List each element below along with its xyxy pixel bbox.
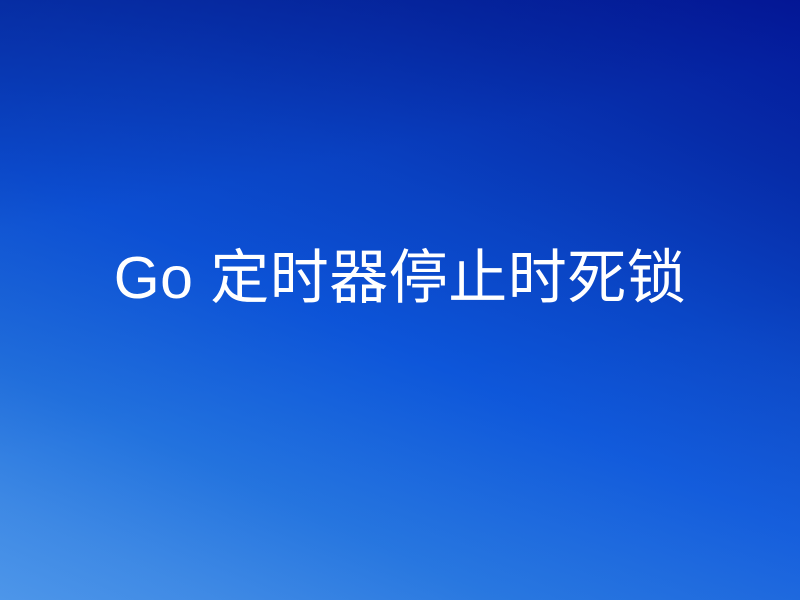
banner-title-container: Go 定时器停止时死锁 — [0, 0, 800, 558]
banner-gradient-overlay — [0, 0, 800, 600]
banner-title: Go 定时器停止时死锁 — [90, 244, 711, 314]
banner-canvas: Go 定时器停止时死锁 — [0, 0, 800, 600]
